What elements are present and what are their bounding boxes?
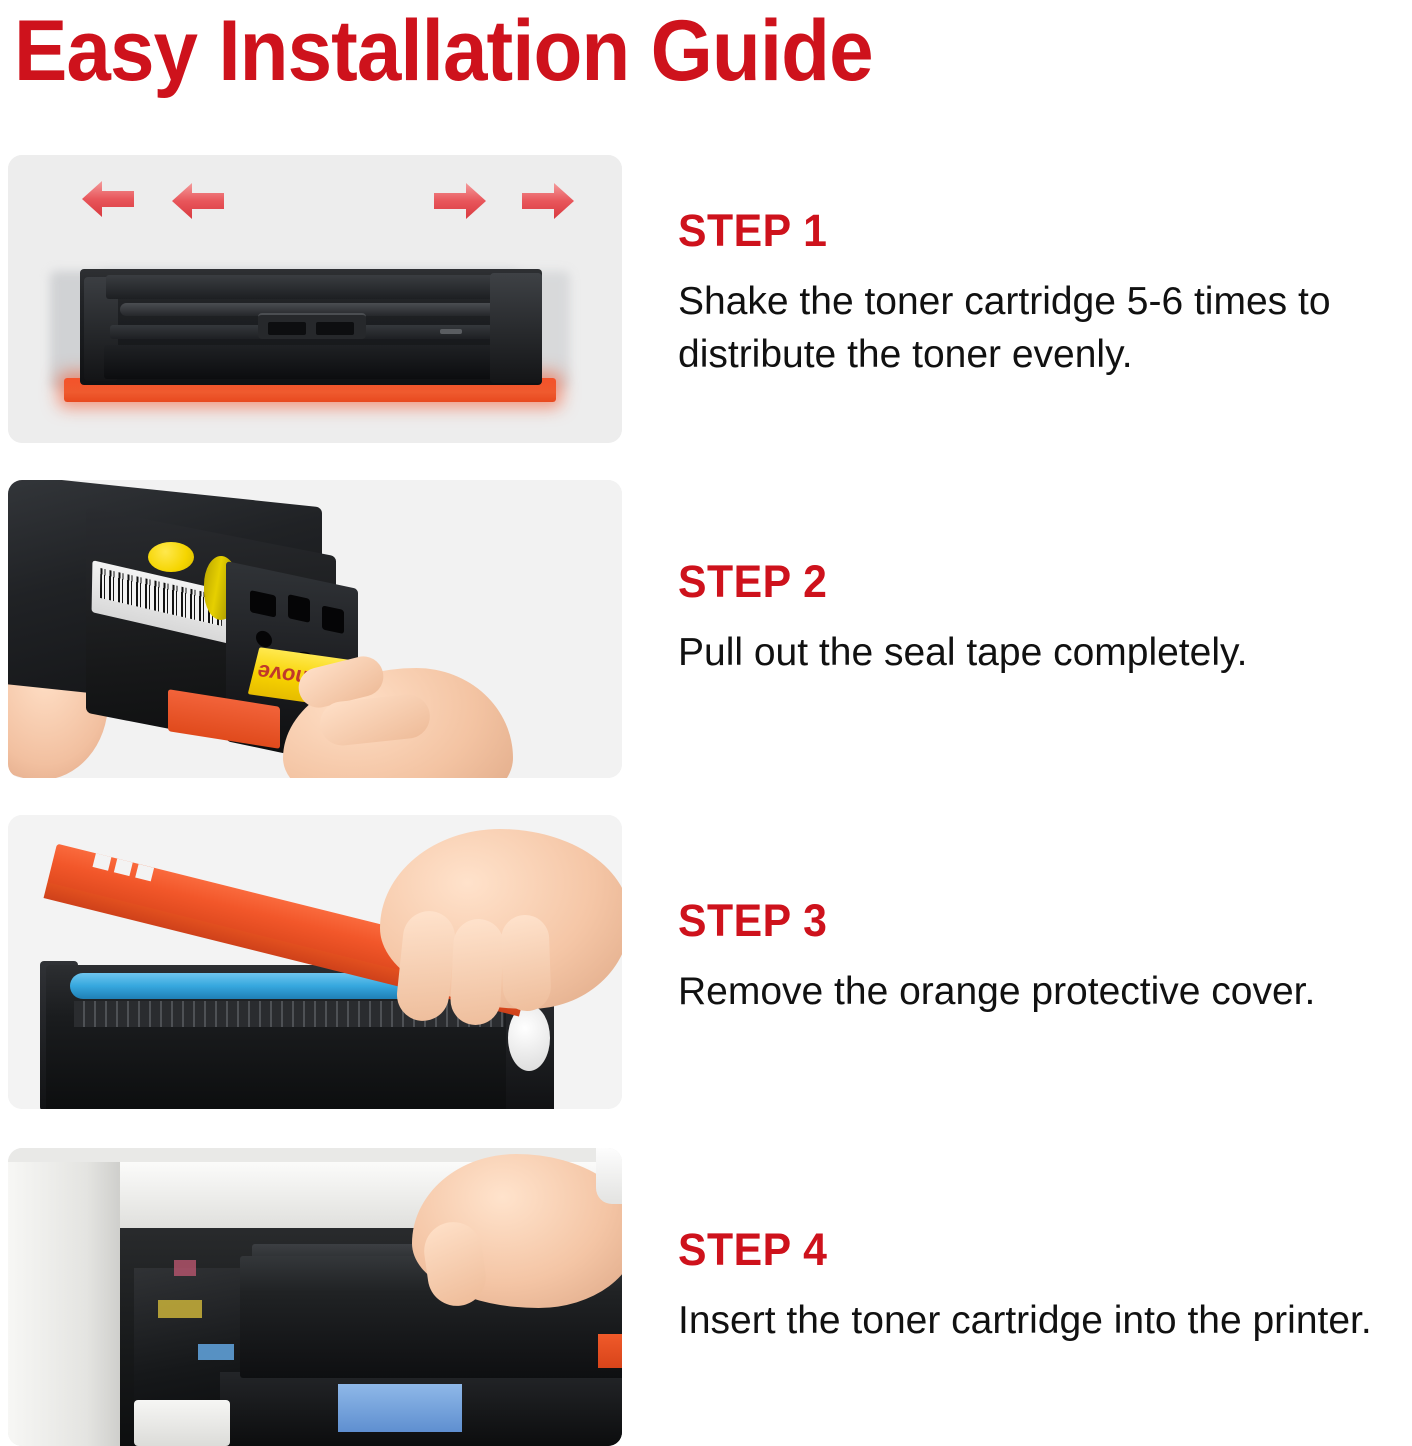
- step-row-1: STEP 1 Shake the toner cartridge 5-6 tim…: [0, 155, 1412, 445]
- step-3-description: Remove the orange protective cover.: [678, 965, 1378, 1018]
- toner-cartridge-illustration: [60, 267, 570, 402]
- step-3-label: STEP 3: [678, 897, 1372, 945]
- cartridge-slot: [288, 594, 310, 623]
- step-3-text: STEP 3 Remove the orange protective cove…: [622, 815, 1412, 1018]
- step-4-image-panel: [8, 1148, 622, 1446]
- cartridge-slot: [250, 590, 276, 618]
- step-2-image-panel: Remove: [8, 480, 622, 778]
- cartridge-top-shell: [106, 275, 520, 299]
- cyan-cartridge-marker: [198, 1344, 234, 1360]
- cartridge-slot: [322, 605, 344, 634]
- arrow-left-icon: [170, 179, 226, 223]
- cover-notch: [93, 853, 112, 870]
- step-row-3: STEP 3 Remove the orange protective cove…: [0, 815, 1412, 1111]
- step-2-description: Pull out the seal tape completely.: [678, 626, 1378, 679]
- cartridge-tick: [440, 329, 462, 334]
- printer-white-guide: [134, 1400, 230, 1446]
- step-2-label: STEP 2: [678, 558, 1372, 606]
- cartridge-hole: [256, 629, 272, 648]
- page-title: Easy Installation Guide: [14, 4, 873, 98]
- cartridge-end-cap-right: [490, 273, 542, 383]
- finger: [500, 914, 551, 1012]
- cover-notch: [114, 859, 133, 876]
- step-2-text: STEP 2 Pull out the seal tape completely…: [622, 480, 1412, 679]
- cartridge-handle: [258, 313, 366, 339]
- magenta-cartridge-marker: [174, 1260, 196, 1276]
- arrow-right-icon: [432, 179, 488, 223]
- cartridge-body: [80, 269, 542, 385]
- step-1-image-panel: [8, 155, 622, 443]
- cartridge-lower-shell: [104, 345, 528, 379]
- blue-cartridge-handle: [338, 1384, 462, 1432]
- step-1-description: Shake the toner cartridge 5-6 times to d…: [678, 275, 1378, 381]
- printer-left-body: [8, 1162, 120, 1446]
- arrow-left-icon: [80, 177, 136, 221]
- arrow-right-icon: [520, 179, 576, 223]
- finger: [449, 918, 504, 1026]
- step-row-4: STEP 4 Insert the toner cartridge into t…: [0, 1148, 1412, 1446]
- step-3-image-panel: [8, 815, 622, 1109]
- sleeve: [596, 1148, 622, 1204]
- step-4-text: STEP 4 Insert the toner cartridge into t…: [622, 1148, 1412, 1347]
- step-4-label: STEP 4: [678, 1226, 1372, 1274]
- step-1-label: STEP 1: [678, 207, 1372, 255]
- orange-tab: [598, 1334, 622, 1368]
- cover-notch: [135, 864, 154, 881]
- yellow-cap: [148, 542, 194, 572]
- step-4-description: Insert the toner cartridge into the prin…: [678, 1294, 1378, 1347]
- step-row-2: Remove STEP 2 Pull out the seal tape com…: [0, 480, 1412, 780]
- step-1-text: STEP 1 Shake the toner cartridge 5-6 tim…: [622, 155, 1412, 381]
- yellow-cartridge-marker: [158, 1300, 202, 1318]
